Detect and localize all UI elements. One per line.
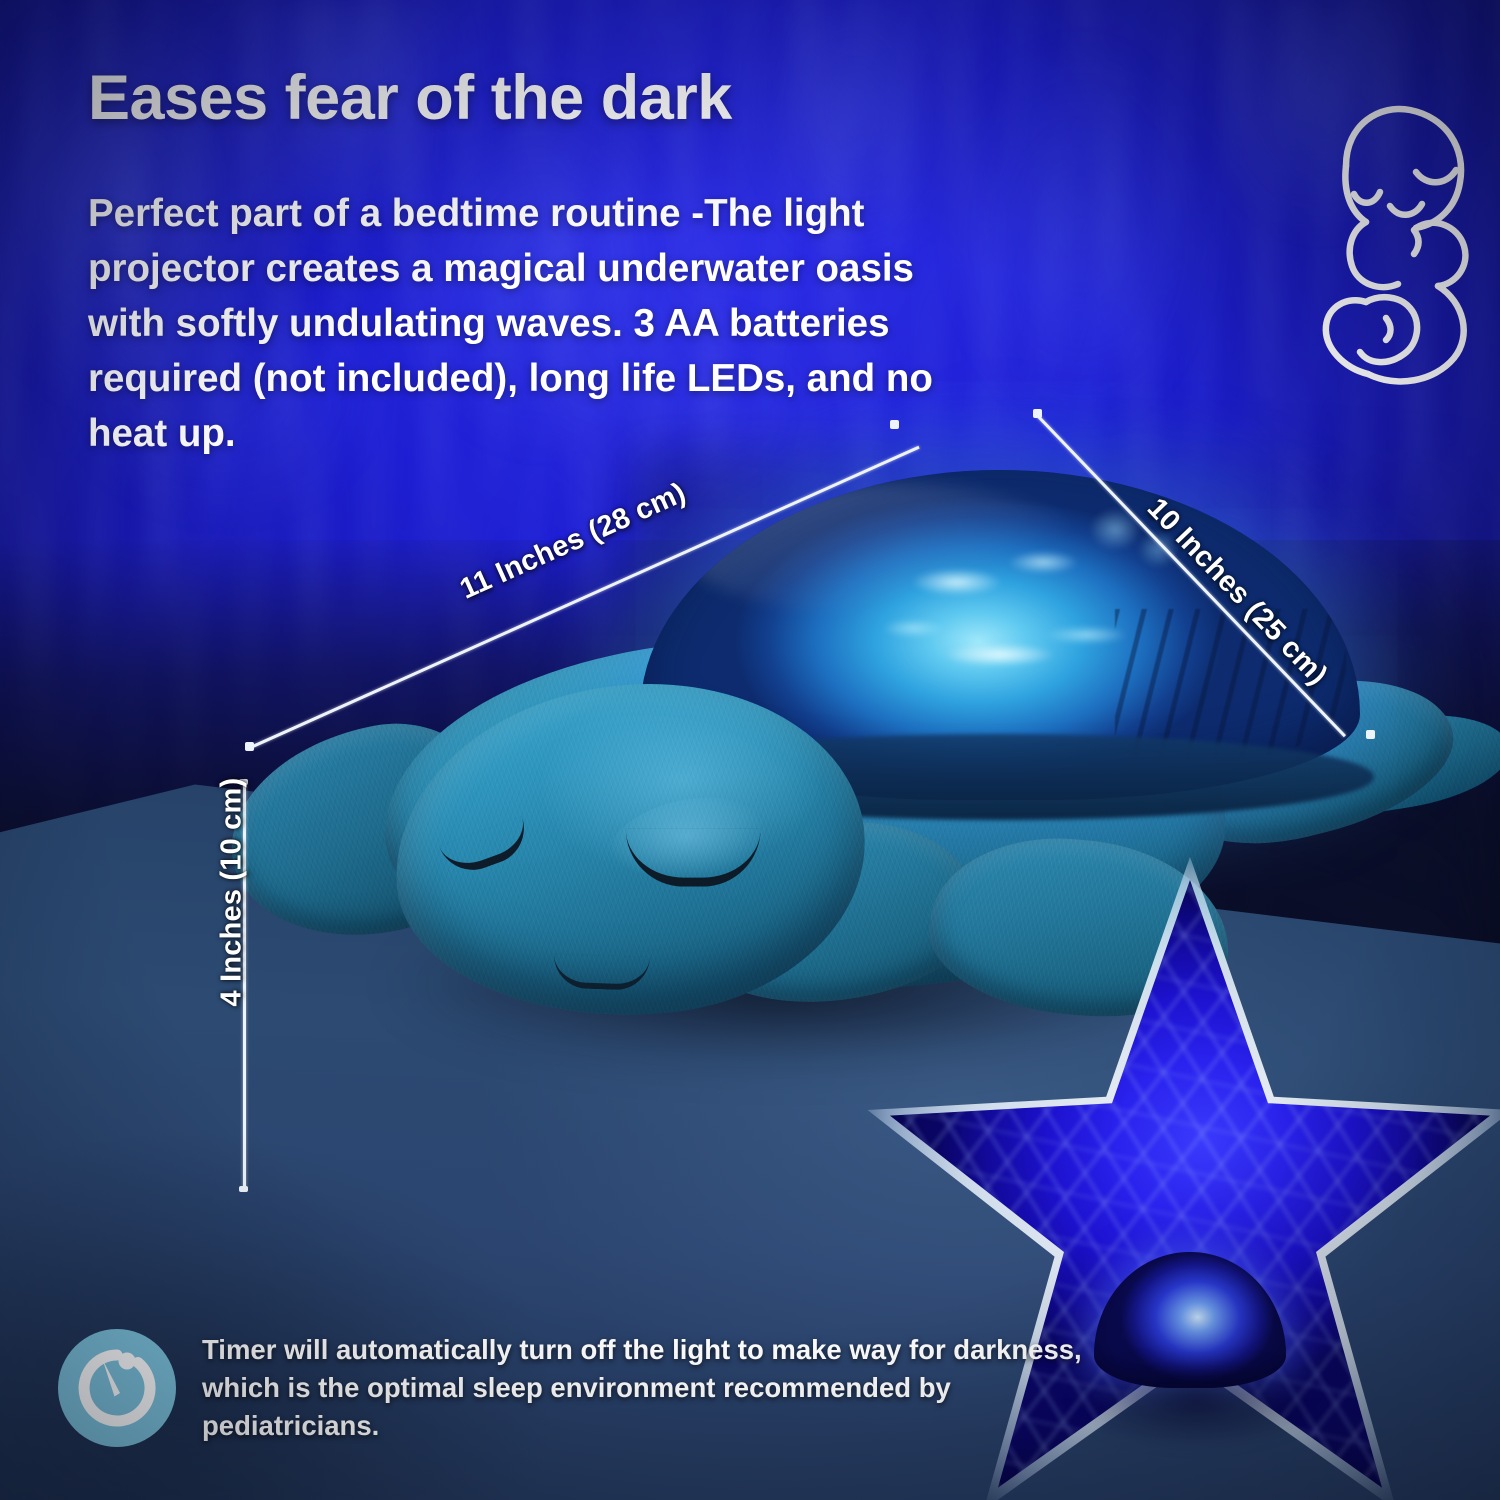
- sleeping-baby-logo: [1288, 96, 1478, 396]
- product-feature-image: 11 Inches (28 cm) 10 Inches (25 cm) 4 In…: [0, 0, 1500, 1500]
- footer-text-block: Timer will automatically turn off the li…: [202, 1331, 1118, 1445]
- dimension-cap-width-start: [245, 742, 254, 751]
- footer-line-1: Timer will automatically turn off the li…: [202, 1331, 1118, 1369]
- footer-caption: Timer will automatically turn off the li…: [58, 1328, 1118, 1448]
- dimension-cap-height-bottom: [239, 1186, 248, 1192]
- timer-icon: [58, 1329, 176, 1447]
- dome-gloss-highlight: [683, 483, 1086, 615]
- page-headline: Eases fear of the dark: [88, 62, 732, 134]
- dimension-cap-depth-start: [1033, 409, 1042, 418]
- dimension-cap-depth-end: [1366, 730, 1375, 739]
- page-body-copy: Perfect part of a bedtime routine -The l…: [88, 186, 988, 461]
- dimension-label-height: 4 Inches (10 cm): [216, 778, 249, 1007]
- footer-line-2: which is the optimal sleep environment r…: [202, 1369, 1118, 1445]
